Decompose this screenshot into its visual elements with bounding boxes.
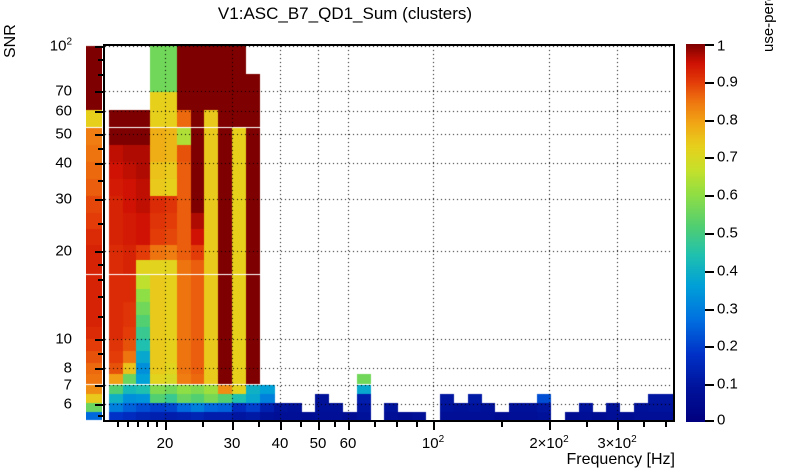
x-minor-tick: [147, 422, 149, 427]
x-tick-label: 40: [272, 436, 289, 451]
x-tick-mark: [617, 422, 619, 430]
x-minor-tick: [202, 422, 204, 427]
y-tick-label: 30: [40, 192, 72, 207]
colorbar-tick-mark: [705, 195, 714, 197]
underflow-column: [86, 44, 102, 422]
colorbar-tick-label: 1: [717, 39, 725, 54]
colorbar-tick-mark: [705, 233, 714, 235]
colorbar-tick-label: 0.9: [717, 75, 738, 90]
y-tick-label: 7: [40, 378, 72, 393]
plot-area[interactable]: [103, 44, 675, 422]
x-minor-tick: [501, 422, 503, 427]
x-minor-tick: [127, 422, 129, 427]
y-tick-label: 20: [40, 244, 72, 259]
x-minor-tick: [300, 422, 302, 427]
colorbar-title: use-percentage: [760, 0, 777, 52]
colorbar-tick-mark: [705, 309, 714, 311]
colorbar-tick-mark: [705, 82, 714, 84]
colorbar-tick-mark: [705, 120, 714, 122]
colorbar-tick-label: 0.5: [717, 226, 738, 241]
y-tick-label: 8: [40, 361, 72, 376]
y-tick-label: 6: [40, 397, 72, 412]
x-tick-label: 30: [224, 436, 241, 451]
colorbar-tick-mark: [705, 420, 714, 422]
colorbar-tick-label: 0.2: [717, 339, 738, 354]
page-title: V1:ASC_B7_QD1_Sum (clusters): [0, 4, 690, 24]
y-axis-title: SNR: [2, 24, 20, 58]
x-minor-tick: [137, 422, 139, 427]
x-minor-tick: [643, 422, 645, 427]
colorbar-tick-label: 0.8: [717, 113, 738, 128]
x-tick-mark: [280, 422, 282, 430]
x-tick-mark: [348, 422, 350, 430]
colorbar-axis: 10.90.80.70.60.50.40.30.20.10: [686, 44, 801, 422]
y-tick-label: 70: [40, 84, 72, 99]
colorbar-tick-label: 0.3: [717, 302, 738, 317]
colorbar-tick-mark: [705, 271, 714, 273]
colorbar-tick-label: 0: [717, 413, 725, 428]
x-tick-label: 60: [340, 436, 357, 451]
y-tick-label: 40: [40, 156, 72, 171]
x-minor-tick: [258, 422, 260, 427]
heatmap-canvas[interactable]: [105, 46, 673, 420]
y-tick-label: 102: [40, 39, 72, 54]
colorbar-tick-label: 0.6: [717, 188, 738, 203]
x-minor-tick: [665, 422, 667, 427]
colorbar-tick-label: 0.4: [717, 264, 738, 279]
x-minor-tick: [396, 422, 398, 427]
x-tick-label: 3×102: [597, 436, 636, 451]
x-tick-mark: [318, 422, 320, 430]
colorbar-tick-label: 0.7: [717, 150, 738, 165]
x-tick-label: 50: [310, 436, 327, 451]
x-minor-tick: [334, 422, 336, 427]
x-tick-mark: [165, 422, 167, 430]
x-tick-label: 102: [422, 436, 444, 451]
x-minor-tick: [416, 422, 418, 427]
colorbar-tick-mark: [705, 157, 714, 159]
colorbar-tick-label: 0.1: [717, 377, 738, 392]
x-tick-mark: [433, 422, 435, 430]
x-tick-mark: [232, 422, 234, 430]
x-tick-label: 2×102: [529, 436, 568, 451]
y-tick-label: 50: [40, 127, 72, 142]
x-minor-tick: [117, 422, 119, 427]
colorbar-tick-mark: [705, 346, 714, 348]
x-minor-tick: [156, 422, 158, 427]
colorbar-tick-mark: [705, 384, 714, 386]
x-minor-tick: [374, 422, 376, 427]
y-tick-label: 10: [40, 332, 72, 347]
x-axis-title: Frequency [Hz]: [567, 451, 675, 469]
y-tick-label: 60: [40, 104, 72, 119]
colorbar-tick-mark: [705, 44, 714, 46]
x-tick-mark: [549, 422, 551, 430]
x-minor-tick: [586, 422, 588, 427]
chart-root: V1:ASC_B7_QD1_Sum (clusters) SNR 1027060…: [0, 0, 805, 472]
x-tick-label: 20: [157, 436, 174, 451]
